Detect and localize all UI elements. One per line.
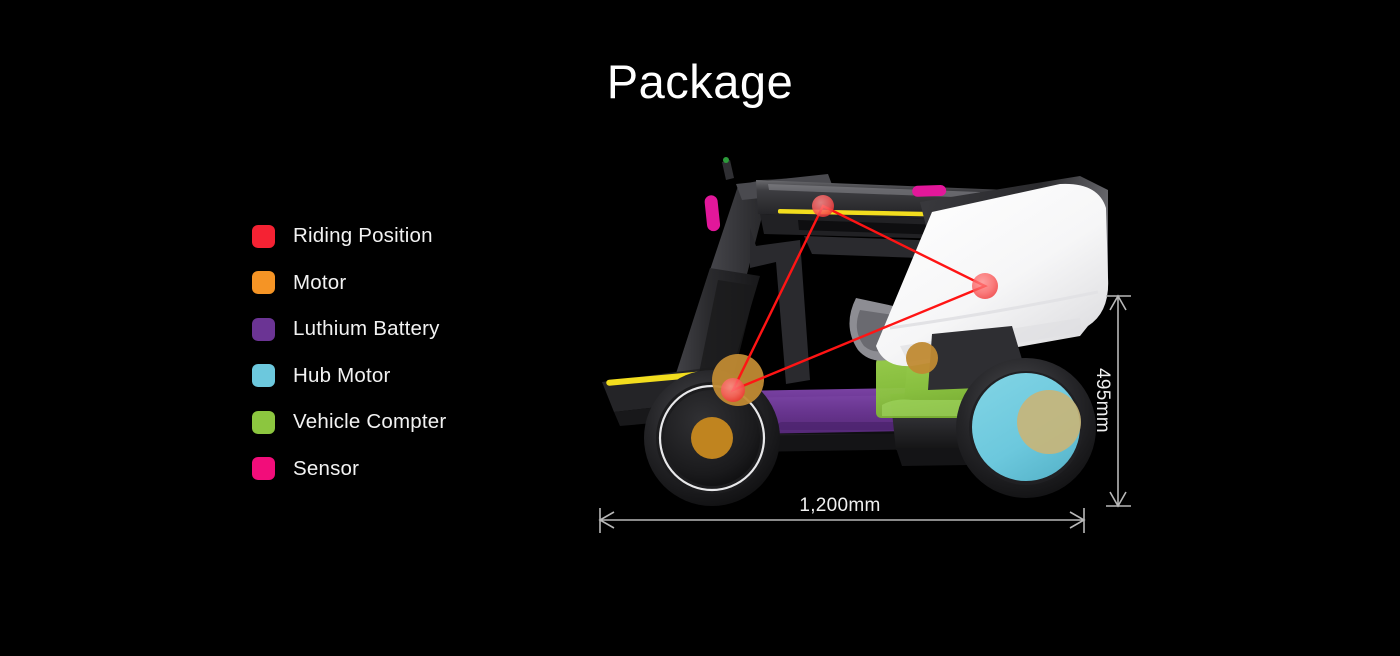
- riding-position-node-hip: [972, 273, 998, 299]
- square-swatch-icon: [252, 225, 275, 248]
- square-swatch-icon: [252, 271, 275, 294]
- legend-item-label: Motor: [293, 271, 346, 295]
- legend-item-label: Sensor: [293, 457, 359, 481]
- legend-item-motor[interactable]: Motor: [252, 260, 552, 307]
- hub-motor-core: [1017, 390, 1081, 454]
- square-swatch-icon: [252, 411, 275, 434]
- riding-position-node-head: [812, 195, 834, 217]
- legend-item-luthium-battery[interactable]: Luthium Battery: [252, 306, 552, 353]
- motor-marker-rear: [906, 342, 938, 374]
- square-swatch-icon: [252, 318, 275, 341]
- legend-item-label: Hub Motor: [293, 364, 391, 388]
- antenna-mount: [722, 160, 734, 180]
- riding-position-node-foot: [721, 378, 745, 402]
- legend-item-label: Vehicle Compter: [293, 410, 446, 434]
- legend-item-riding-position[interactable]: Riding Position: [252, 213, 552, 260]
- legend-item-sensor[interactable]: Sensor: [252, 446, 552, 493]
- page-title: Package: [0, 58, 1400, 105]
- legend-item-label: Luthium Battery: [293, 317, 440, 341]
- square-swatch-icon: [252, 457, 275, 480]
- legend: Riding Position Motor Luthium Battery Hu…: [252, 213, 552, 492]
- square-swatch-icon: [252, 364, 275, 387]
- slide-canvas: Package Riding Position Motor Luthium Ba…: [0, 0, 1400, 656]
- sensor-marker-front: [704, 195, 721, 232]
- dimension-width-label: 1,200mm: [740, 495, 940, 517]
- legend-item-label: Riding Position: [293, 224, 433, 248]
- antenna-tip-icon: [723, 157, 729, 163]
- dimension-height-label: 495mm: [1091, 368, 1113, 468]
- legend-item-hub-motor[interactable]: Hub Motor: [252, 353, 552, 400]
- legend-item-vehicle-compter[interactable]: Vehicle Compter: [252, 399, 552, 446]
- motor-marker-front-hub: [691, 417, 733, 459]
- sensor-marker-roof: [912, 185, 946, 197]
